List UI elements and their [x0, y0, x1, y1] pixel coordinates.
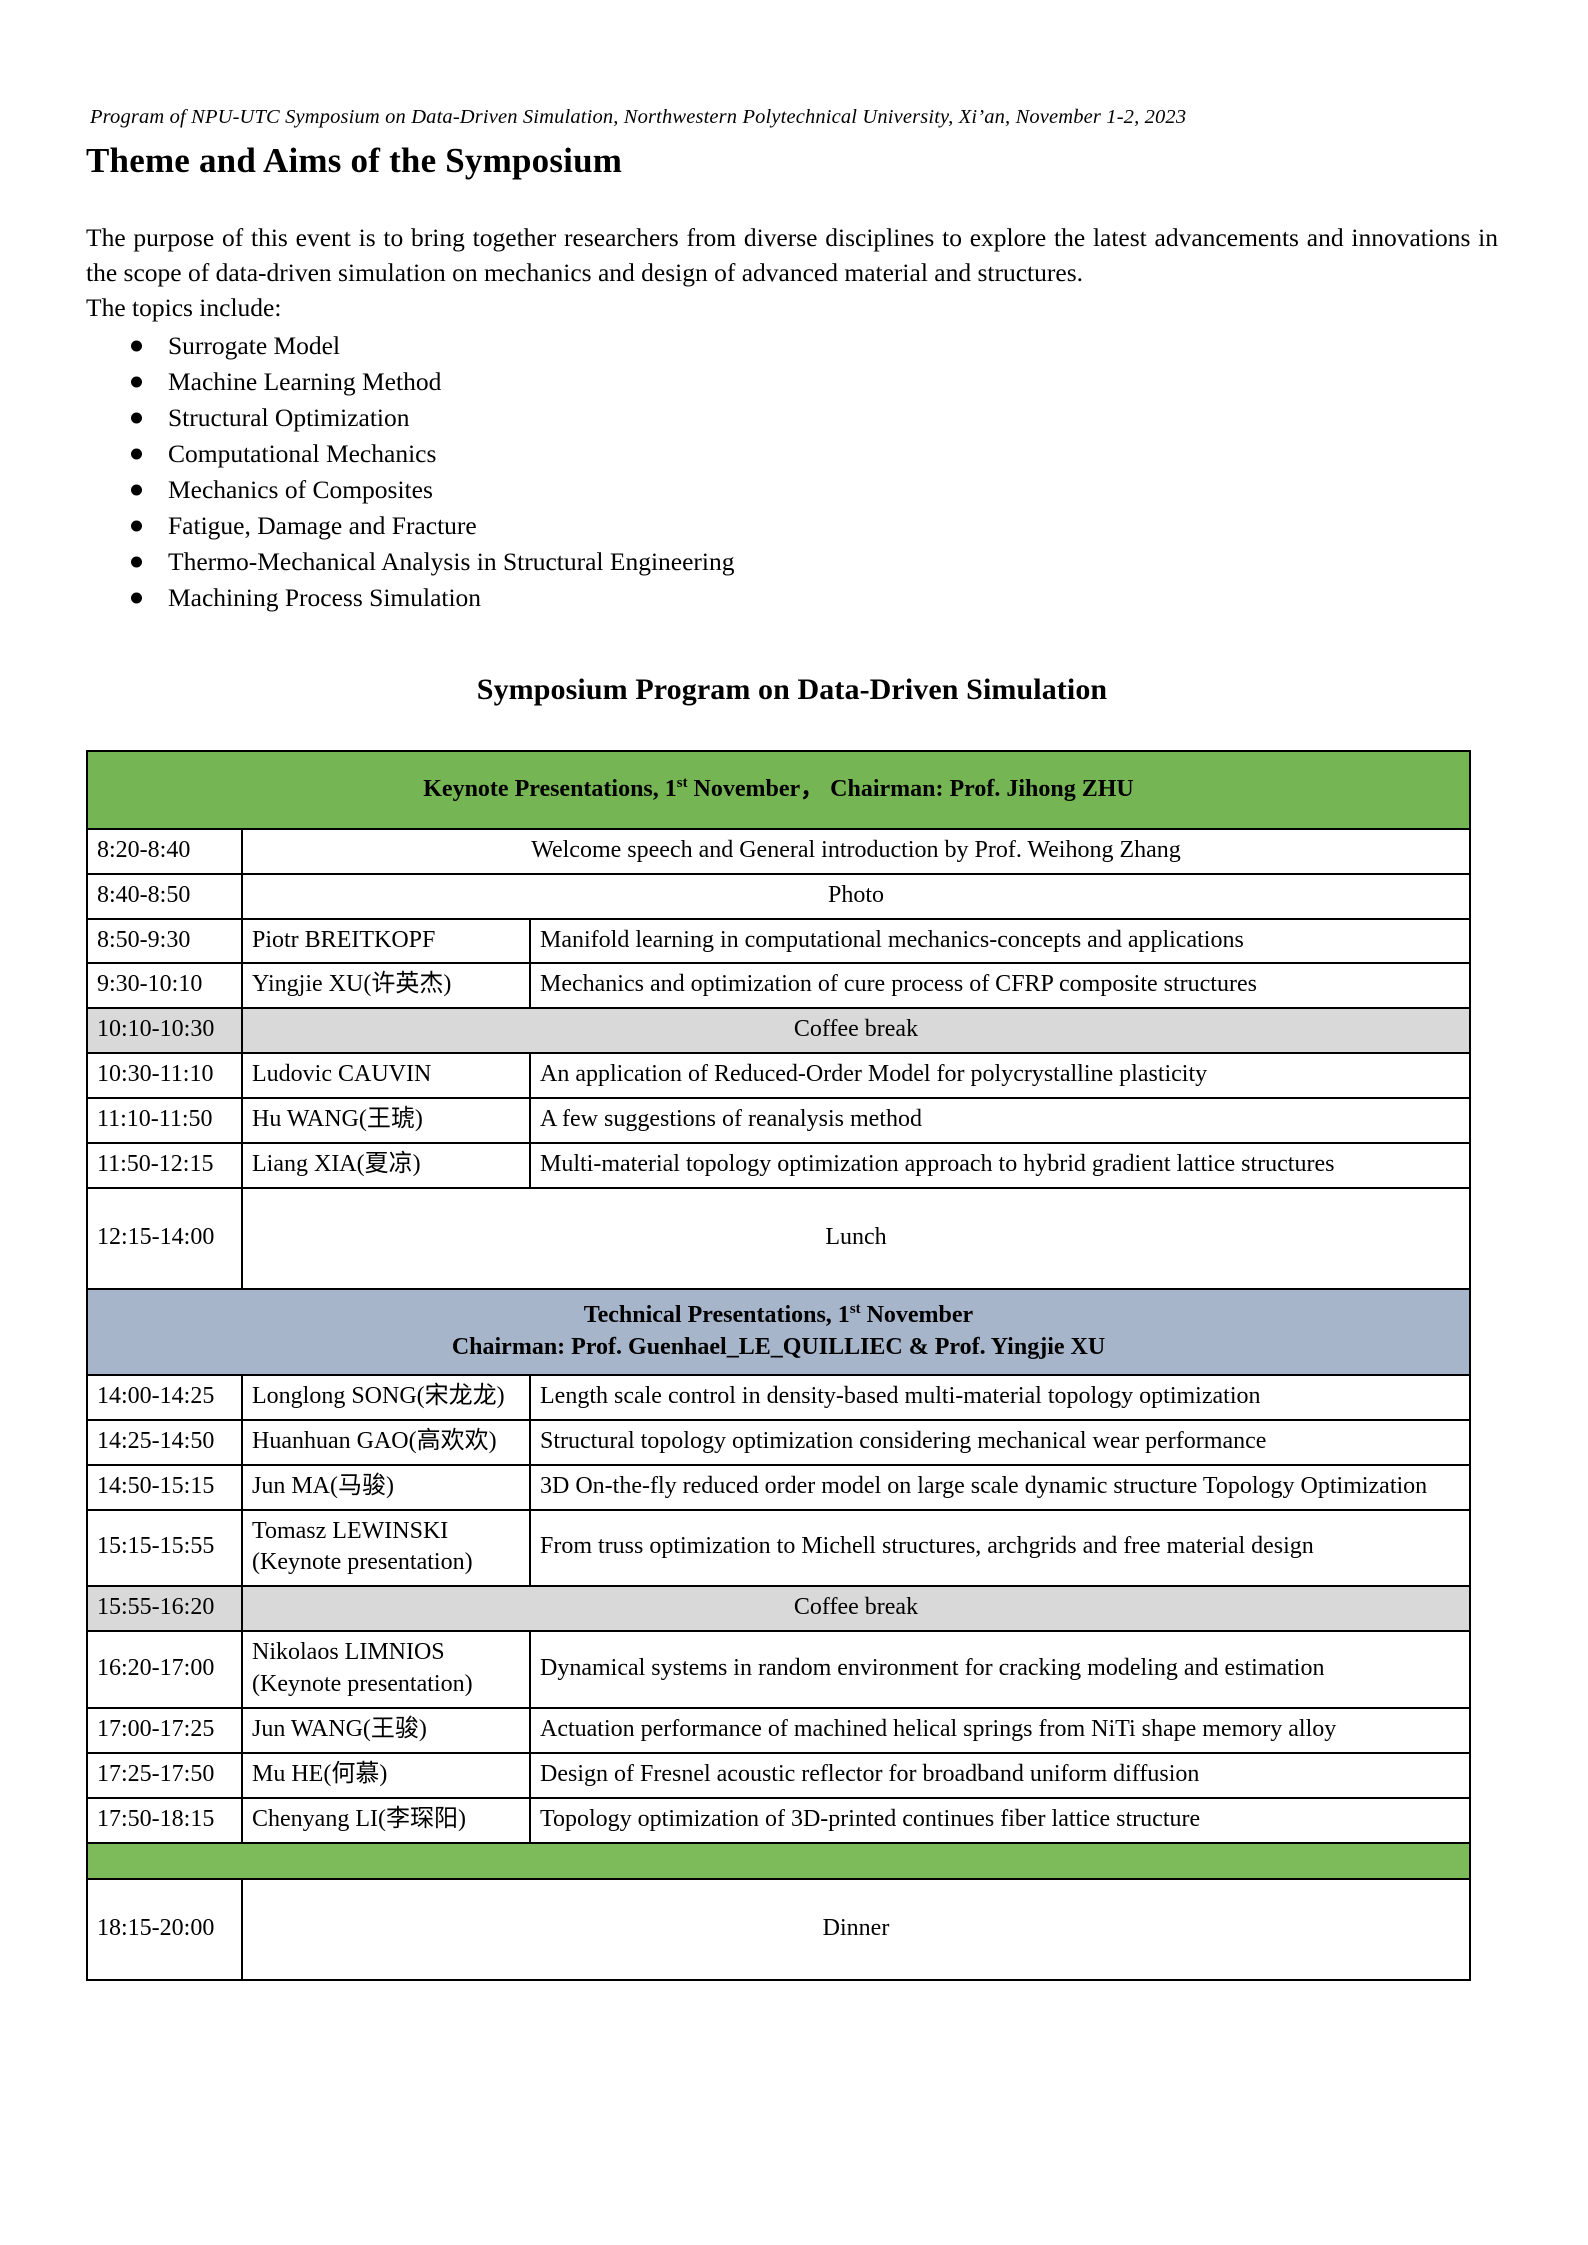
cell-talk-title: Length scale control in density-based mu… [530, 1375, 1470, 1420]
cell-speaker: Hu WANG(王琥) [242, 1098, 530, 1143]
cell-speaker: Mu HE(何慕) [242, 1753, 530, 1798]
cell-time: 17:25-17:50 [87, 1753, 242, 1798]
list-item: Structural Optimization [86, 400, 1498, 436]
table-row-break: 15:55-16:20 Coffee break [87, 1586, 1470, 1631]
bullet-icon [131, 412, 142, 423]
table-row: 8:40-8:50 Photo [87, 874, 1470, 919]
cell-talk-title: Design of Fresnel acoustic reflector for… [530, 1753, 1470, 1798]
table-row: 8:50-9:30 Piotr BREITKOPF Manifold learn… [87, 919, 1470, 964]
table-row: 14:25-14:50 Huanhuan GAO(高欢欢) Structural… [87, 1420, 1470, 1465]
topic-label: Machine Learning Method [168, 367, 441, 396]
cell-talk-title: Actuation performance of machined helica… [530, 1708, 1470, 1753]
cell-speaker: Jun MA(马骏) [242, 1465, 530, 1510]
table-row: 9:30-10:10 Yingjie XU(许英杰) Mechanics and… [87, 963, 1470, 1008]
cell-talk-title: A few suggestions of reanalysis method [530, 1098, 1470, 1143]
keynote-header-post: November， Chairman: Prof. Jihong ZHU [688, 776, 1134, 802]
document-content: Program of NPU-UTC Symposium on Data-Dri… [86, 105, 1498, 1981]
table-row: 14:50-15:15 Jun MA(马骏) 3D On-the-fly red… [87, 1465, 1470, 1510]
cell-time: 12:15-14:00 [87, 1188, 242, 1289]
bullet-icon [131, 377, 142, 388]
cell-speaker: Yingjie XU(许英杰) [242, 963, 530, 1008]
cell-speaker: Piotr BREITKOPF [242, 919, 530, 964]
table-row-dinner: 18:15-20:00 Dinner [87, 1879, 1470, 1980]
cell-span: Welcome speech and General introduction … [242, 829, 1470, 874]
intro-paragraph: The purpose of this event is to bring to… [86, 221, 1498, 291]
list-item: Thermo-Mechanical Analysis in Structural… [86, 544, 1498, 580]
topic-label: Structural Optimization [168, 403, 410, 432]
cell-talk-title: Topology optimization of 3D-printed cont… [530, 1798, 1470, 1843]
cell-time: 14:00-14:25 [87, 1375, 242, 1420]
green-spacer-band [87, 1843, 1470, 1879]
cell-time: 10:10-10:30 [87, 1008, 242, 1053]
cell-talk-title: Structural topology optimization conside… [530, 1420, 1470, 1465]
keynote-header-pre: Keynote Presentations, 1 [423, 776, 677, 802]
technical-header-pre: Technical Presentations, 1 [584, 1302, 850, 1328]
topic-label: Mechanics of Composites [168, 475, 433, 504]
section-header-row-keynote: Keynote Presentations, 1st November， Cha… [87, 751, 1470, 829]
section-spacer-row-green [87, 1843, 1470, 1879]
program-table: Keynote Presentations, 1st November， Cha… [86, 750, 1471, 1981]
keynote-section-header: Keynote Presentations, 1st November， Cha… [87, 751, 1470, 829]
cell-time: 10:30-11:10 [87, 1053, 242, 1098]
section-header-row-technical: Technical Presentations, 1st NovemberCha… [87, 1289, 1470, 1375]
topics-list: Surrogate Model Machine Learning Method … [86, 328, 1498, 616]
cell-time: 8:20-8:40 [87, 829, 242, 874]
bullet-icon [131, 556, 142, 567]
list-item: Computational Mechanics [86, 436, 1498, 472]
table-row-break: 10:10-10:30 Coffee break [87, 1008, 1470, 1053]
list-item: Machining Process Simulation [86, 580, 1498, 616]
cell-span: Lunch [242, 1188, 1470, 1289]
table-row: 17:50-18:15 Chenyang LI(李琛阳) Topology op… [87, 1798, 1470, 1843]
cell-speaker: Jun WANG(王骏) [242, 1708, 530, 1753]
cell-speaker: Huanhuan GAO(高欢欢) [242, 1420, 530, 1465]
topic-label: Thermo-Mechanical Analysis in Structural… [168, 547, 735, 576]
running-head: Program of NPU-UTC Symposium on Data-Dri… [90, 105, 1498, 130]
cell-span: Dinner [242, 1879, 1470, 1980]
table-row: 10:30-11:10 Ludovic CAUVIN An applicatio… [87, 1053, 1470, 1098]
table-row: 16:20-17:00 Nikolaos LIMNIOS (Keynote pr… [87, 1631, 1470, 1708]
technical-section-header: Technical Presentations, 1st NovemberCha… [87, 1289, 1470, 1375]
cell-span: Coffee break [242, 1008, 1470, 1053]
cell-speaker: Nikolaos LIMNIOS (Keynote presentation) [242, 1631, 530, 1708]
cell-speaker: Tomasz LEWINSKI (Keynote presentation) [242, 1510, 530, 1587]
cell-talk-title: Dynamical systems in random environment … [530, 1631, 1470, 1708]
table-row: 11:10-11:50 Hu WANG(王琥) A few suggestion… [87, 1098, 1470, 1143]
cell-talk-title: Manifold learning in computational mecha… [530, 919, 1470, 964]
bullet-icon [131, 484, 142, 495]
table-row: 17:25-17:50 Mu HE(何慕) Design of Fresnel … [87, 1753, 1470, 1798]
cell-time: 14:25-14:50 [87, 1420, 242, 1465]
list-item: Mechanics of Composites [86, 472, 1498, 508]
cell-time: 16:20-17:00 [87, 1631, 242, 1708]
cell-speaker: Liang XIA(夏凉) [242, 1143, 530, 1188]
cell-talk-title: 3D On-the-fly reduced order model on lar… [530, 1465, 1470, 1510]
list-item: Surrogate Model [86, 328, 1498, 364]
cell-time: 14:50-15:15 [87, 1465, 242, 1510]
table-row-lunch: 12:15-14:00 Lunch [87, 1188, 1470, 1289]
cell-time: 9:30-10:10 [87, 963, 242, 1008]
cell-span: Coffee break [242, 1586, 1470, 1631]
cell-time: 11:10-11:50 [87, 1098, 242, 1143]
table-row: 8:20-8:40 Welcome speech and General int… [87, 829, 1470, 874]
table-row: 15:15-15:55 Tomasz LEWINSKI (Keynote pre… [87, 1510, 1470, 1587]
table-row: 14:00-14:25 Longlong SONG(宋龙龙) Length sc… [87, 1375, 1470, 1420]
technical-header-chairman: Chairman: Prof. Guenhael_LE_QUILLIEC & P… [452, 1334, 1105, 1360]
program-title: Symposium Program on Data-Driven Simulat… [86, 673, 1498, 707]
cell-speaker: Longlong SONG(宋龙龙) [242, 1375, 530, 1420]
cell-time: 17:50-18:15 [87, 1798, 242, 1843]
cell-time: 8:50-9:30 [87, 919, 242, 964]
bullet-icon [131, 448, 142, 459]
topics-lead: The topics include: [86, 291, 1498, 326]
list-item: Fatigue, Damage and Fracture [86, 508, 1498, 544]
cell-talk-title: Mechanics and optimization of cure proce… [530, 963, 1470, 1008]
cell-time: 15:55-16:20 [87, 1586, 242, 1631]
cell-time: 8:40-8:50 [87, 874, 242, 919]
topic-label: Computational Mechanics [168, 439, 436, 468]
cell-span: Photo [242, 874, 1470, 919]
document-page: Program of NPU-UTC Symposium on Data-Dri… [0, 0, 1588, 2245]
topic-label: Fatigue, Damage and Fracture [168, 511, 477, 540]
topic-label: Surrogate Model [168, 331, 340, 360]
cell-speaker: Chenyang LI(李琛阳) [242, 1798, 530, 1843]
cell-speaker: Ludovic CAUVIN [242, 1053, 530, 1098]
keynote-header-ordinal: st [677, 775, 688, 791]
cell-talk-title: Multi-material topology optimization app… [530, 1143, 1470, 1188]
cell-time: 15:15-15:55 [87, 1510, 242, 1587]
table-row: 17:00-17:25 Jun WANG(王骏) Actuation perfo… [87, 1708, 1470, 1753]
bullet-icon [131, 341, 142, 352]
cell-time: 18:15-20:00 [87, 1879, 242, 1980]
bullet-icon [131, 520, 142, 531]
cell-talk-title: An application of Reduced-Order Model fo… [530, 1053, 1470, 1098]
page-title: Theme and Aims of the Symposium [86, 139, 1498, 183]
cell-talk-title: From truss optimization to Michell struc… [530, 1510, 1470, 1587]
technical-header-post: November [861, 1302, 974, 1328]
bullet-icon [131, 592, 142, 603]
technical-header-ordinal: st [850, 1301, 861, 1317]
cell-time: 11:50-12:15 [87, 1143, 242, 1188]
topic-label: Machining Process Simulation [168, 583, 481, 612]
list-item: Machine Learning Method [86, 364, 1498, 400]
cell-time: 17:00-17:25 [87, 1708, 242, 1753]
table-row: 11:50-12:15 Liang XIA(夏凉) Multi-material… [87, 1143, 1470, 1188]
